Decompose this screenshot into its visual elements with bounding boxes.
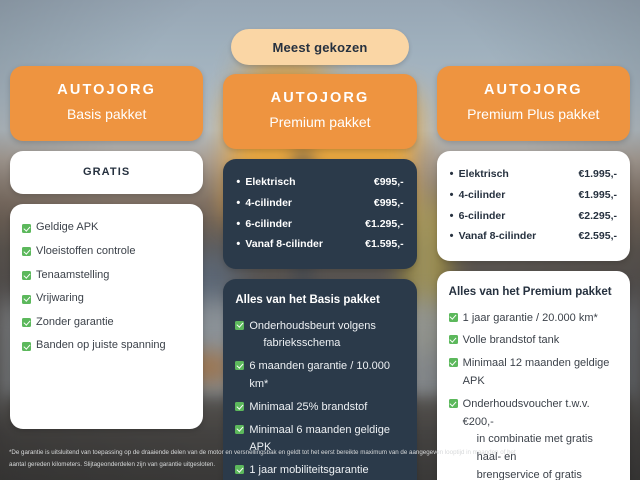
list-item-label: Onderhoudsvoucher t.w.v. €200,- [463, 398, 590, 428]
list-item-label: Zonder garantie [36, 314, 114, 332]
price-box-basis: GRATIS [10, 151, 203, 194]
price-row: •Vanaf 8-cilinder€2.595,- [450, 226, 617, 247]
bullet-icon: • [450, 231, 459, 242]
price-row-value: €2.595,- [578, 228, 617, 245]
list-item-label: Banden op juiste spanning [36, 337, 166, 355]
price-row-label: 6-cilinder [459, 208, 579, 225]
price-row-label: Vanaf 8-cilinder [459, 228, 579, 245]
check-icon [235, 321, 244, 330]
price-row-value: €995,- [374, 174, 404, 191]
price-row: •Elektrisch€995,- [236, 172, 403, 193]
check-icon [235, 425, 244, 434]
brand-name: AUTOJORG [445, 80, 622, 102]
list-item: Minimaal 25% brandstof [235, 396, 404, 419]
price-row-value: €1.995,- [578, 187, 617, 204]
pricing-column-premium: Meest gekozen AUTOJORG Premium pakket •E… [223, 0, 416, 480]
price-row-value: €1.995,- [578, 166, 617, 183]
price-row-label: 4-cilinder [459, 187, 579, 204]
check-icon [235, 361, 244, 370]
list-item-label: Volle brandstof tank [463, 332, 618, 350]
list-item: 1 jaar garantie / 20.000 km* [449, 307, 618, 330]
price-row: •Vanaf 8-cilinder€1.595,- [236, 234, 403, 255]
list-item: Geldige APK [22, 216, 191, 240]
price-row-label: Elektrisch [459, 166, 579, 183]
list-item-continuation: fabrieksschema [249, 335, 404, 353]
price-row-value: €1.295,- [365, 216, 404, 233]
list-item-label: 6 maanden garantie / 10.000 km* [249, 358, 404, 394]
pricing-columns: AUTOJORG Basis pakket GRATIS Geldige APK… [0, 0, 640, 480]
bullet-icon: • [450, 190, 459, 201]
footer-disclaimer-line-2: aantal gereden kilometers. Slijtageonder… [9, 459, 631, 470]
list-item-label: Geldige APK [36, 219, 98, 237]
list-item: Onderhoudsbeurt volgensfabrieksschema [235, 315, 404, 356]
check-icon [449, 399, 458, 408]
price-list-premium-plus: •Elektrisch€1.995,- •4-cilinder€1.995,- … [437, 151, 630, 260]
price-row-value: €1.595,- [365, 236, 404, 253]
most-chosen-badge: Meest gekozen [231, 29, 409, 65]
list-item-label: 1 jaar garantie / 20.000 km* [463, 310, 618, 328]
price-row-label: 4-cilinder [245, 195, 374, 212]
list-item: Vloeistoffen controle [22, 240, 191, 264]
brand-name: AUTOJORG [18, 80, 195, 102]
price-panel-premium-plus: •Elektrisch€1.995,- •4-cilinder€1.995,- … [437, 151, 630, 260]
feature-panel-basis: Geldige APK Vloeistoffen controle Tenaam… [10, 204, 203, 429]
list-item: Zonder garantie [22, 311, 191, 335]
feature-list-basis: Geldige APK Vloeistoffen controle Tenaam… [10, 204, 203, 374]
list-item: Volle brandstof tank [449, 330, 618, 353]
list-item-label: Vloeistoffen controle [36, 243, 135, 261]
package-header-basis: AUTOJORG Basis pakket [10, 66, 203, 141]
package-header-premium-plus: AUTOJORG Premium Plus pakket [437, 66, 630, 141]
check-icon [22, 247, 31, 256]
most-chosen-badge-wrap: Meest gekozen [223, 0, 416, 65]
package-header-premium: AUTOJORG Premium pakket [223, 74, 416, 149]
list-item: Tenaamstelling [22, 264, 191, 288]
price-row: •6-cilinder€1.295,- [236, 214, 403, 235]
price-row: •6-cilinder€2.295,- [450, 206, 617, 227]
package-subtitle: Basis pakket [18, 104, 195, 126]
price-row: •4-cilinder€1.995,- [450, 185, 617, 206]
price-row: •4-cilinder€995,- [236, 193, 403, 214]
check-icon [22, 271, 31, 280]
pricing-column-basis: AUTOJORG Basis pakket GRATIS Geldige APK… [10, 0, 203, 429]
list-item-label: Minimaal 12 maanden geldige APK [463, 355, 618, 391]
bullet-icon: • [450, 169, 459, 180]
list-item: 6 maanden garantie / 10.000 km* [235, 356, 404, 397]
check-icon [449, 358, 458, 367]
list-item: Minimaal 12 maanden geldige APK [449, 353, 618, 394]
price-panel-premium: •Elektrisch€995,- •4-cilinder€995,- •6-c… [223, 159, 416, 268]
price-list-premium: •Elektrisch€995,- •4-cilinder€995,- •6-c… [223, 159, 416, 268]
bullet-icon: • [450, 211, 459, 222]
check-icon [22, 342, 31, 351]
bullet-icon: • [236, 219, 245, 230]
list-item: Banden op juiste spanning [22, 334, 191, 358]
package-subtitle: Premium pakket [231, 112, 408, 134]
list-item-label: Minimaal 25% brandstof [249, 399, 404, 417]
footer-disclaimer-line-1: *De garantie is uitsluitend van toepassi… [9, 447, 631, 458]
check-icon [449, 313, 458, 322]
package-subtitle: Premium Plus pakket [445, 104, 622, 126]
list-item-label: Tenaamstelling [36, 267, 109, 285]
footer-disclaimer: *De garantie is uitsluitend van toepassi… [0, 439, 640, 480]
price-row-label: Elektrisch [245, 174, 374, 191]
price-row-label: 6-cilinder [245, 216, 365, 233]
price-row-label: Vanaf 8-cilinder [245, 236, 365, 253]
price-row-value: €995,- [374, 195, 404, 212]
check-icon [235, 402, 244, 411]
bullet-icon: • [236, 177, 245, 188]
check-icon [22, 224, 31, 233]
check-icon [449, 335, 458, 344]
pricing-column-premium-plus: AUTOJORG Premium Plus pakket •Elektrisch… [437, 0, 630, 480]
price-row-value: €2.295,- [578, 208, 617, 225]
list-item: Vrijwaring [22, 287, 191, 311]
check-icon [22, 295, 31, 304]
brand-name: AUTOJORG [231, 88, 408, 110]
list-item-label: Onderhoudsbeurt volgens [249, 320, 376, 332]
feature-list-title: Alles van het Basis pakket [235, 292, 404, 309]
bullet-icon: • [236, 198, 245, 209]
feature-list-title: Alles van het Premium pakket [449, 284, 618, 301]
list-item-label: Vrijwaring [36, 290, 84, 308]
price-label-gratis: GRATIS [10, 151, 203, 194]
price-row: •Elektrisch€1.995,- [450, 164, 617, 185]
bullet-icon: • [236, 239, 245, 250]
check-icon [22, 318, 31, 327]
